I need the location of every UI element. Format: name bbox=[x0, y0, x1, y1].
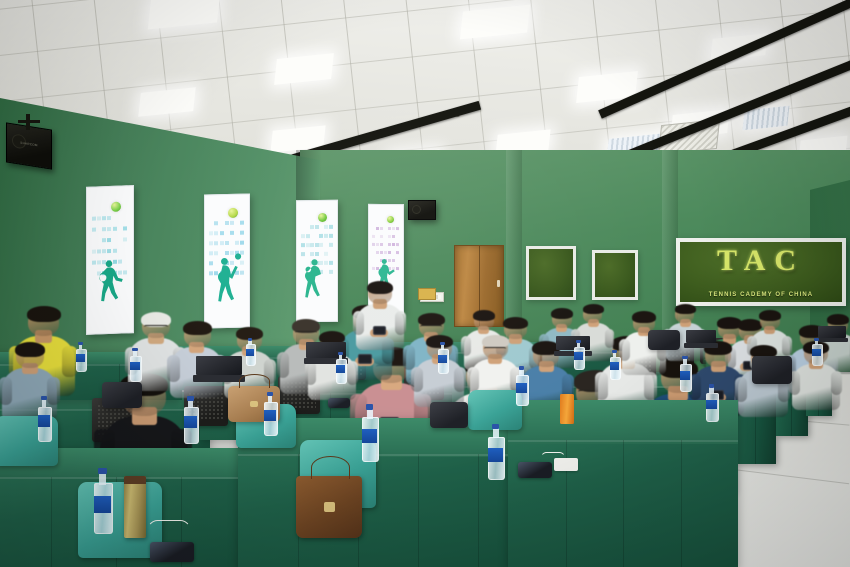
person-hair bbox=[583, 304, 604, 314]
bag-handle bbox=[311, 456, 350, 479]
bottle-label bbox=[76, 354, 85, 361]
banner-pixel bbox=[220, 231, 224, 235]
tablecloth-fold bbox=[51, 477, 52, 567]
banner-pixel bbox=[329, 243, 333, 247]
banner-pixel bbox=[209, 231, 213, 235]
person-glasses bbox=[484, 347, 506, 352]
bag-red-right[interactable] bbox=[648, 330, 680, 350]
laptop-keyboard[interactable] bbox=[816, 338, 847, 342]
bottle-label bbox=[680, 371, 690, 380]
person-hair bbox=[15, 342, 45, 357]
bottle-cap bbox=[248, 338, 252, 341]
bottle-neck bbox=[367, 408, 373, 418]
person-hair bbox=[632, 311, 656, 323]
water-bottle[interactable] bbox=[812, 338, 821, 364]
bag-black-row2[interactable] bbox=[430, 402, 468, 428]
banner-pixel bbox=[107, 227, 111, 231]
banner-pixel bbox=[324, 225, 328, 229]
banner-pixel bbox=[301, 234, 305, 238]
laptop[interactable] bbox=[818, 326, 846, 342]
table-edge-highlight bbox=[0, 477, 246, 479]
water-bottle[interactable] bbox=[610, 350, 619, 378]
tac-logo-sign: TAC TENNIS CADEMY OF CHINA bbox=[676, 238, 846, 306]
phone-in-hand[interactable] bbox=[358, 354, 372, 364]
laptop-screen bbox=[196, 356, 242, 375]
banner-pixel bbox=[301, 243, 305, 247]
banner-2 bbox=[204, 194, 250, 329]
banner-pixel bbox=[102, 216, 106, 220]
door-handle[interactable] bbox=[497, 280, 500, 287]
bottle-label bbox=[264, 410, 276, 421]
bag-brown-floor[interactable] bbox=[296, 476, 362, 538]
banner-tennis-ball bbox=[318, 213, 327, 222]
water-bottle[interactable] bbox=[706, 384, 717, 420]
person-arm-left bbox=[411, 367, 423, 392]
banner-pixel bbox=[240, 241, 244, 245]
banner-pixel bbox=[214, 221, 218, 225]
banner-pixel bbox=[240, 231, 244, 235]
banner-pixel bbox=[225, 221, 229, 225]
banner-pixel bbox=[220, 241, 224, 245]
bottle-label bbox=[812, 349, 821, 356]
bottle-label bbox=[94, 496, 111, 513]
moss-panel-left bbox=[526, 246, 576, 300]
banner-pixel bbox=[230, 231, 234, 235]
person-arm-right bbox=[831, 371, 842, 395]
water-bottle[interactable] bbox=[488, 424, 503, 478]
tablecloth-fold bbox=[418, 454, 419, 567]
speaker-mount-arm bbox=[18, 120, 40, 123]
bottle-neck bbox=[441, 344, 445, 349]
banner-pixel bbox=[235, 241, 239, 245]
person-hair bbox=[367, 281, 393, 294]
bottle-label bbox=[574, 352, 583, 359]
person-arm-left bbox=[595, 372, 608, 400]
charging-cable bbox=[540, 452, 566, 468]
bag-handle bbox=[239, 374, 270, 388]
banner-pixel bbox=[310, 243, 314, 247]
banner-pixel bbox=[306, 234, 310, 238]
laptop-keyboard[interactable] bbox=[684, 343, 718, 348]
bottle-neck bbox=[613, 352, 617, 357]
bottle-neck bbox=[519, 369, 523, 376]
water-bottle[interactable] bbox=[516, 366, 527, 404]
banner-pixel bbox=[209, 241, 213, 245]
laptop[interactable] bbox=[686, 330, 716, 348]
water-bottle[interactable] bbox=[438, 342, 447, 372]
person-arm-left bbox=[467, 367, 479, 392]
bottle-cap bbox=[440, 342, 445, 345]
water-bottle[interactable] bbox=[130, 348, 140, 380]
banner-pixel bbox=[113, 227, 117, 231]
phone-in-hand[interactable] bbox=[373, 326, 386, 335]
bottle-cap bbox=[267, 392, 273, 396]
tablecloth-fold bbox=[623, 440, 624, 567]
laptop-screen bbox=[818, 326, 846, 338]
banner-pixel bbox=[372, 243, 375, 246]
person-arm-left bbox=[167, 355, 180, 382]
person-light-blue-2 bbox=[168, 316, 226, 394]
water-bottle[interactable] bbox=[94, 468, 111, 532]
photo-scene: TAC TENNIS CADEMY OF CHINA SHARCOM bbox=[0, 0, 850, 567]
banner-pixel bbox=[214, 231, 218, 235]
bottle-cap bbox=[98, 468, 107, 474]
bottle-neck bbox=[133, 351, 137, 357]
wall-notice-sign bbox=[418, 288, 436, 300]
person-hair bbox=[759, 310, 781, 321]
banner-pixel bbox=[388, 227, 391, 230]
bottle-neck bbox=[248, 340, 251, 345]
person-arm-left bbox=[735, 377, 747, 402]
bottle-cap bbox=[709, 384, 715, 388]
person-arm-right bbox=[644, 372, 657, 400]
banner-pixel bbox=[107, 216, 111, 220]
bottle-cap bbox=[366, 404, 374, 410]
person-arm-left bbox=[305, 361, 316, 385]
bottle-cap bbox=[78, 342, 83, 345]
charging-cable bbox=[146, 520, 192, 548]
bottle-label bbox=[130, 362, 140, 370]
banner-pixel bbox=[396, 243, 399, 246]
laptop-keyboard[interactable] bbox=[193, 375, 245, 382]
bottle-cap bbox=[187, 396, 194, 401]
water-bottle[interactable] bbox=[184, 396, 197, 442]
banner-pixel bbox=[388, 235, 391, 238]
bottle-cap bbox=[41, 396, 47, 400]
person-arm-right bbox=[62, 346, 77, 377]
laptop[interactable] bbox=[196, 356, 242, 382]
bottle-label bbox=[516, 383, 527, 393]
laptop-keyboard[interactable] bbox=[554, 351, 592, 356]
tablecloth-fold bbox=[681, 440, 682, 567]
bottle-cap bbox=[682, 356, 687, 359]
banner-pixel bbox=[329, 234, 333, 238]
water-bottle[interactable] bbox=[680, 356, 690, 390]
banner-tennis-ball bbox=[228, 208, 238, 218]
bottle-neck bbox=[268, 395, 273, 403]
bottle-neck bbox=[339, 354, 343, 359]
banner-pixel bbox=[380, 235, 383, 238]
thermos-lid bbox=[124, 476, 146, 484]
banner-tennis-ball bbox=[111, 202, 121, 212]
bottle-cap bbox=[576, 340, 581, 343]
banner-pixel bbox=[376, 243, 379, 246]
bag-clasp bbox=[324, 502, 335, 512]
banner-pixel bbox=[392, 227, 395, 230]
water-bottle[interactable] bbox=[76, 342, 85, 370]
banner-pixel bbox=[372, 235, 375, 238]
bottle-neck bbox=[99, 473, 106, 485]
water-bottle[interactable] bbox=[362, 404, 377, 460]
speaker-back-wall bbox=[408, 200, 436, 220]
banner-pixel bbox=[380, 227, 383, 230]
banner-pixel bbox=[102, 238, 106, 242]
bottle-neck bbox=[79, 344, 83, 349]
speaker-cone bbox=[412, 205, 421, 214]
person-left-edge-a bbox=[0, 336, 60, 417]
water-bottle[interactable] bbox=[246, 338, 254, 364]
tac-sign-letters: TAC bbox=[680, 246, 842, 276]
water-bottle[interactable] bbox=[38, 396, 50, 440]
banner-pixel bbox=[392, 235, 395, 238]
bottle-neck bbox=[709, 387, 713, 393]
bottle-cap bbox=[814, 338, 819, 341]
banner-pixel bbox=[324, 234, 328, 238]
banner-pixel bbox=[392, 243, 395, 246]
bottle-label bbox=[706, 400, 717, 409]
tac-sign-subtitle: TENNIS CADEMY OF CHINA bbox=[680, 292, 842, 298]
bottle-cap bbox=[492, 424, 500, 429]
banner-3 bbox=[296, 200, 338, 322]
banner-pixel bbox=[102, 227, 106, 231]
banner-pixel bbox=[225, 241, 229, 245]
bottle-label bbox=[610, 362, 619, 369]
banner-pixel bbox=[214, 241, 218, 245]
person-arm-right bbox=[605, 329, 614, 348]
bottle-neck bbox=[42, 400, 47, 408]
person-hair bbox=[675, 304, 696, 314]
person-hair bbox=[183, 321, 212, 335]
bottle-cap bbox=[132, 348, 137, 351]
bag-black-row3[interactable] bbox=[102, 382, 142, 408]
laptop-screen bbox=[686, 330, 716, 343]
person-arm-right bbox=[347, 361, 358, 385]
table-row-front-right bbox=[508, 400, 738, 567]
person-hair bbox=[551, 308, 573, 319]
banner-pixel bbox=[123, 237, 127, 241]
bottle-label bbox=[246, 349, 254, 356]
banner-pixel bbox=[92, 228, 96, 232]
banner-pixel bbox=[319, 234, 323, 238]
bottle-label bbox=[336, 365, 345, 373]
tac-sign-board: TAC TENNIS CADEMY OF CHINA bbox=[680, 242, 842, 302]
phone-row2-table[interactable] bbox=[328, 398, 350, 408]
person-arm-left bbox=[0, 377, 12, 405]
moss-surface bbox=[529, 249, 573, 297]
drink-can[interactable] bbox=[560, 394, 574, 424]
banner-pixel bbox=[388, 243, 391, 246]
bottle-cap bbox=[519, 366, 525, 370]
banner-tennis-ball bbox=[387, 216, 394, 223]
person-hair bbox=[473, 310, 495, 321]
person-arm-right bbox=[454, 367, 466, 392]
banner-pixel bbox=[240, 221, 244, 225]
bottle-neck bbox=[188, 400, 193, 408]
moss-surface bbox=[595, 253, 635, 297]
bottle-neck bbox=[683, 359, 687, 365]
bottle-label bbox=[184, 416, 197, 428]
gold-thermos[interactable] bbox=[124, 476, 146, 538]
banner-pixel bbox=[230, 221, 234, 225]
person-arm-left bbox=[277, 352, 289, 378]
bottle-label bbox=[438, 355, 447, 363]
water-bottle[interactable] bbox=[264, 392, 276, 434]
banner-pixel bbox=[97, 216, 101, 220]
bottle-label bbox=[38, 415, 50, 426]
bottle-neck bbox=[577, 342, 581, 347]
banner-pixel bbox=[315, 225, 319, 229]
bottle-cap bbox=[612, 350, 617, 353]
moss-panel-right bbox=[592, 250, 638, 300]
banner-pixel bbox=[380, 243, 383, 246]
person-hair bbox=[827, 314, 849, 325]
banner-pixel bbox=[310, 225, 314, 229]
bottle-neck bbox=[815, 340, 819, 345]
person-hair bbox=[27, 306, 61, 322]
banner-pixel bbox=[319, 243, 323, 247]
person-hair bbox=[503, 317, 528, 329]
table-top-surface bbox=[508, 400, 738, 444]
banner-pixel bbox=[376, 227, 379, 230]
bottle-cap bbox=[338, 352, 343, 355]
person-camera-raised bbox=[354, 276, 406, 346]
banner-pixel bbox=[123, 226, 127, 230]
banner-pixel bbox=[107, 238, 111, 242]
bottle-neck bbox=[493, 428, 499, 438]
banner-pixel bbox=[92, 217, 96, 221]
banner-pixel bbox=[396, 227, 399, 230]
water-bottle[interactable] bbox=[336, 352, 345, 382]
person-glasses bbox=[144, 325, 168, 330]
bag-clasp bbox=[250, 401, 258, 407]
bag-navy-right[interactable] bbox=[752, 356, 792, 384]
tablecloth-fold bbox=[478, 454, 479, 567]
water-bottle[interactable] bbox=[574, 340, 583, 368]
banner-pixel bbox=[329, 225, 333, 229]
bottle-label bbox=[488, 448, 503, 462]
bottle-label bbox=[362, 429, 377, 444]
